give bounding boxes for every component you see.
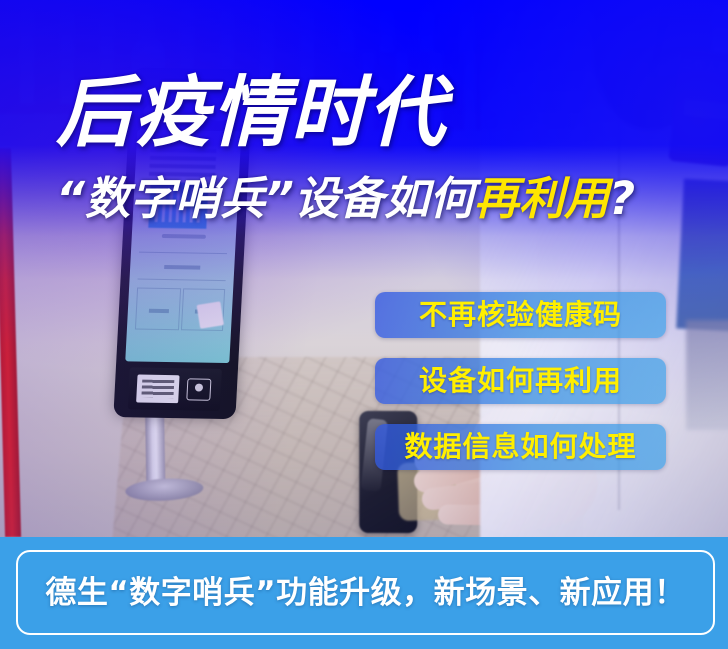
kiosk-white-card: [197, 301, 224, 328]
badge-lower-card-2: [686, 320, 728, 430]
topic-pill-device-reuse[interactable]: 设备如何再利用: [375, 358, 666, 404]
reader-label: [136, 374, 179, 403]
id-card-icon: [186, 378, 211, 400]
kiosk-display: [125, 130, 241, 363]
kiosk-card-reader: [128, 367, 222, 411]
poster-root: 工作人员 后疫情时代 “数字哨兵”设备如何再利用? 不再核验健康码 设备如何再利…: [0, 0, 728, 649]
kiosk-display-text: [149, 148, 217, 179]
topic-pill-data-handling-label: 数据信息如何处理: [404, 432, 636, 462]
kiosk-display-button-1: [138, 252, 228, 281]
bottom-banner-frame: 德生“数字哨兵”功能升级，新场景、新应用！: [16, 550, 715, 635]
kiosk-display-button-2: [135, 288, 181, 331]
kiosk-base: [125, 477, 204, 503]
kiosk-camera-icon: [156, 78, 223, 94]
topic-pill-health-code[interactable]: 不再核验健康码: [375, 292, 666, 338]
topic-pill-device-reuse-label: 设备如何再利用: [419, 366, 622, 396]
kiosk-screen-housing: [113, 68, 253, 420]
kiosk-display-subtext: [162, 234, 206, 239]
topic-pill-health-code-label: 不再核验健康码: [419, 300, 622, 330]
badge-lower-card: [676, 179, 728, 332]
kiosk-led-right-icon: [207, 105, 232, 121]
kiosk-display-title: [169, 136, 209, 141]
bottom-banner: 德生“数字哨兵”功能升级，新场景、新应用！: [0, 537, 728, 649]
kiosk-terminal: [83, 17, 299, 526]
bottom-banner-text: 德生“数字哨兵”功能升级，新场景、新应用！: [45, 576, 685, 610]
qr-code-icon: [148, 182, 208, 229]
topic-pill-data-handling[interactable]: 数据信息如何处理: [375, 424, 666, 470]
kiosk-led-left-icon: [143, 104, 168, 120]
topic-pill-list: 不再核验健康码 设备如何再利用 数据信息如何处理: [375, 292, 666, 470]
